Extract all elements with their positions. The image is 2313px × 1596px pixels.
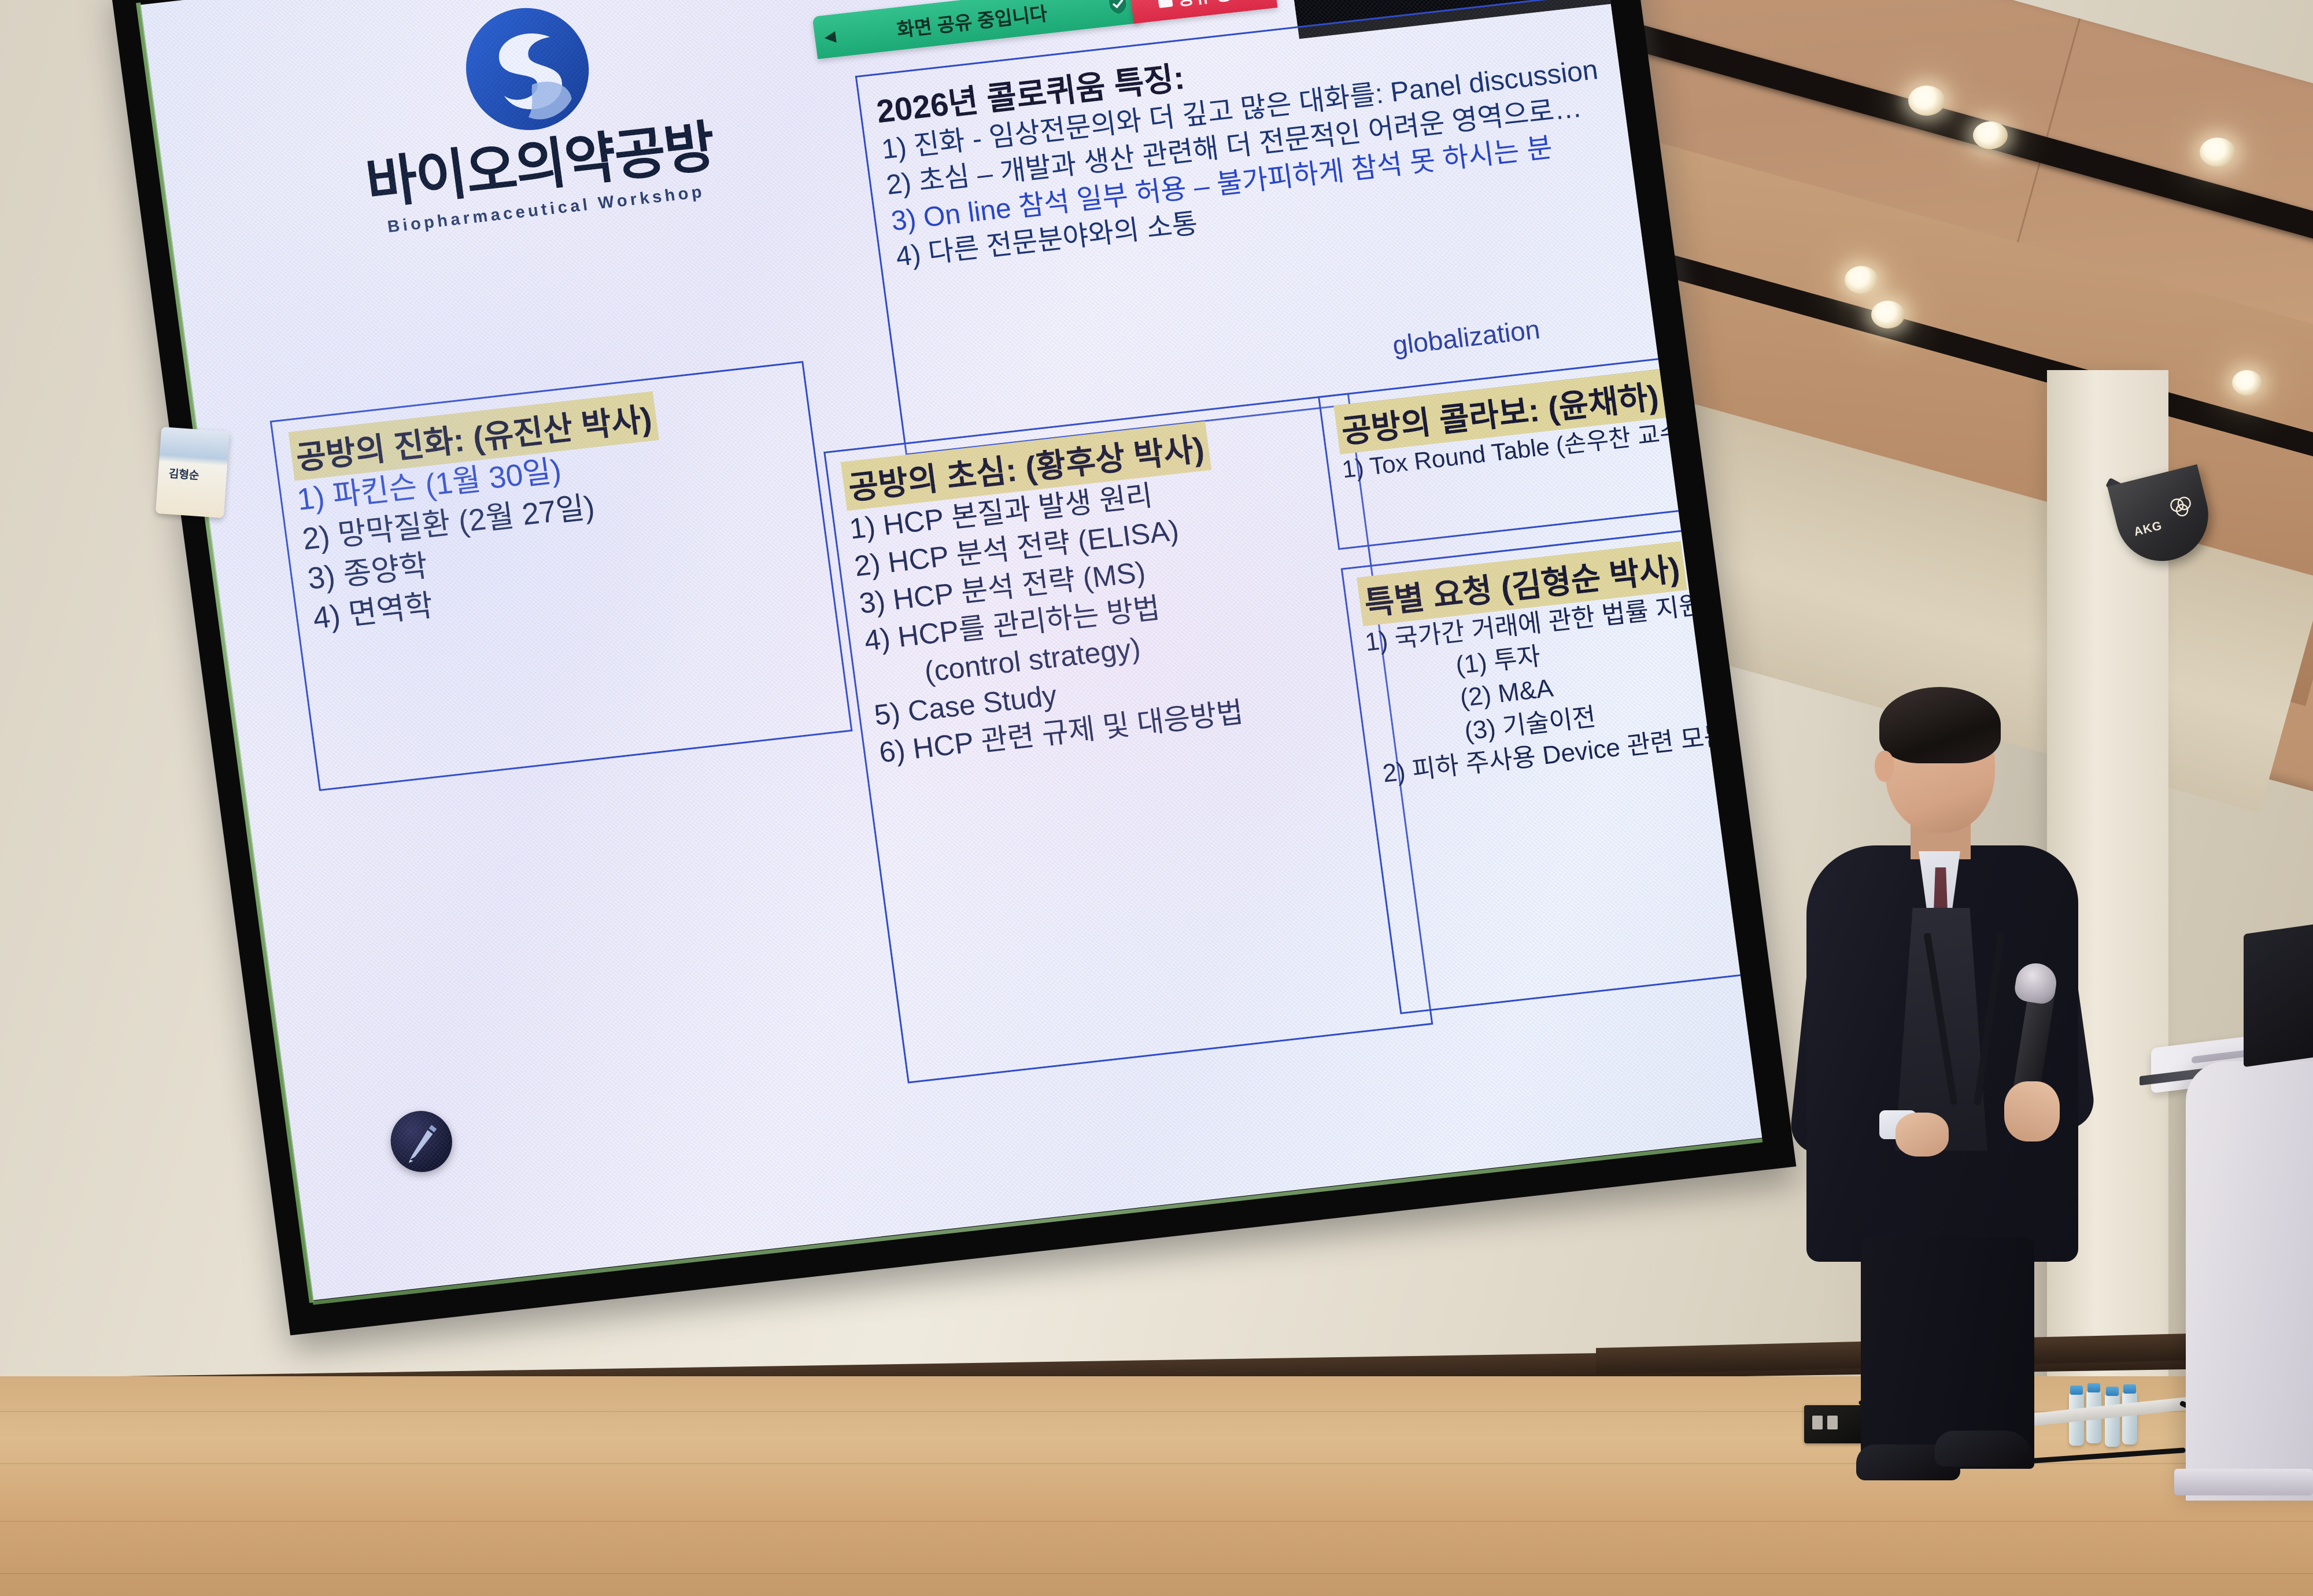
ceiling-downlight <box>2232 370 2262 396</box>
ceiling-downlight <box>2200 138 2236 167</box>
ceiling-downlight <box>1908 86 1945 116</box>
water-bottle <box>2122 1391 2137 1444</box>
presenter-shoe <box>1935 1431 2032 1466</box>
slide-box-evolution: 공방의 진화: (유진산 박사) 1) 파킨슨 (1월 30일) 2) 망막질환… <box>270 361 853 791</box>
podium-base <box>2174 1469 2313 1495</box>
presenter-mic-hand <box>2004 1081 2060 1141</box>
ceiling-downlight <box>1973 121 2008 149</box>
badge-name-text: 김형순 <box>168 465 199 483</box>
ceiling-downlight <box>1845 266 1878 294</box>
share-status-label: 화면 공유 중입니다 <box>842 0 1102 49</box>
podium-monitor <box>2244 917 2313 1067</box>
presenter-ear <box>1875 751 1894 782</box>
workshop-logo-block: 바이오의약공방 Biopharmaceutical Workshop <box>300 0 766 243</box>
screenshot-root: AKG <box>0 0 2313 1596</box>
swirl-circle-logo-icon <box>453 0 603 142</box>
presentation-slide: 바이오의약공방 Biopharmaceutical Workshop ◀ 화면 … <box>140 0 1763 1301</box>
presenter-gesturing-hand <box>1896 1113 1949 1157</box>
stop-sharing-button[interactable]: 공유 중지 <box>1128 0 1277 24</box>
presenter-hair <box>1879 687 2001 763</box>
projection-screen: 바이오의약공방 Biopharmaceutical Workshop ◀ 화면 … <box>110 0 1796 1335</box>
stop-sharing-label: 공유 중지 <box>1176 0 1250 10</box>
pen-annotate-icon[interactable] <box>387 1108 456 1176</box>
lectern-podium <box>2186 1061 2313 1501</box>
screen-surface: 바이오의약공방 Biopharmaceutical Workshop ◀ 화면 … <box>140 0 1763 1301</box>
stop-square-icon <box>1156 0 1173 8</box>
shield-check-icon <box>1107 0 1129 16</box>
share-caret-icon[interactable]: ◀ <box>823 27 837 46</box>
presenter-lanyard <box>1933 932 1996 1123</box>
presenter <box>1787 682 2111 1480</box>
ceiling-downlight <box>1871 301 1905 328</box>
bottle-cap <box>2123 1384 2136 1394</box>
